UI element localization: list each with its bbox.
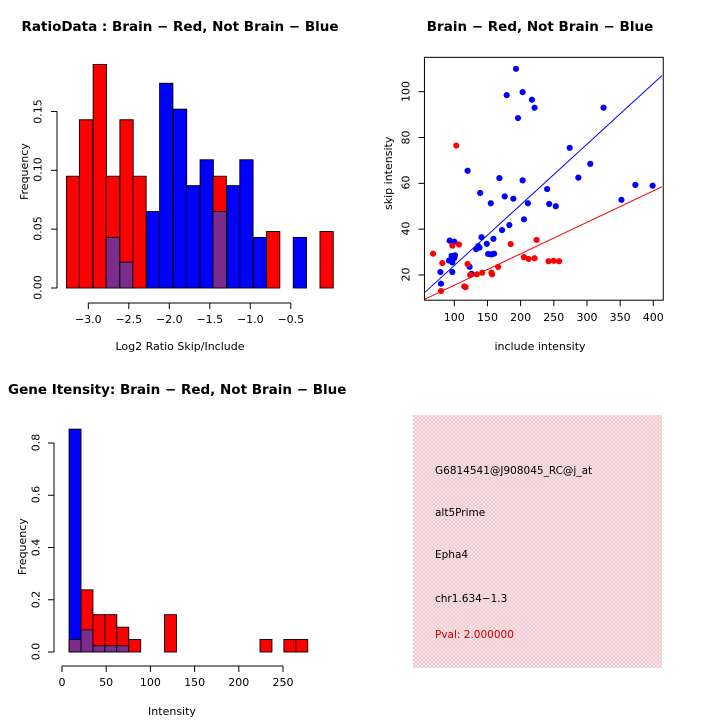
scatter-point xyxy=(473,246,479,252)
x-tick-label: 200 xyxy=(510,311,531,324)
histogram-bar-red xyxy=(129,639,141,652)
histogram-bar-red xyxy=(165,615,177,652)
scatter-point xyxy=(533,237,539,243)
scatter-point xyxy=(556,258,562,264)
histogram-bar-blue xyxy=(293,237,306,288)
x-tick-label: 350 xyxy=(610,311,631,324)
histogram-bar-red xyxy=(296,639,308,652)
scatter-point xyxy=(496,175,502,181)
scatter-point xyxy=(506,222,512,228)
intensity-scatter-panel: Brain − Red, Not Brain − Blue include in… xyxy=(360,0,720,360)
gene-intensity-histogram-ylabel: Frequency xyxy=(16,518,29,575)
scatter-point xyxy=(551,258,557,264)
y-tick-label: 0.05 xyxy=(32,216,45,242)
plot-frame xyxy=(424,57,663,300)
scatter-point xyxy=(521,216,527,222)
x-tick-label: 100 xyxy=(140,676,161,689)
histogram-bar-red xyxy=(79,120,92,288)
scatter-point xyxy=(587,161,593,167)
histogram-bar-blue xyxy=(173,109,186,288)
scatter-point xyxy=(531,105,537,111)
intensity-scatter-plot xyxy=(360,0,720,330)
x-tick-label: 0 xyxy=(59,676,66,689)
scatter-point xyxy=(575,175,581,181)
scatter-point xyxy=(438,281,444,287)
x-tick-label: −2.5 xyxy=(115,313,142,326)
gene-intensity-histogram-xlabel: Intensity xyxy=(148,705,196,718)
y-tick-label: 0.00 xyxy=(32,275,45,301)
scatter-point xyxy=(462,284,468,290)
scatter-point xyxy=(495,264,501,270)
y-tick-label: 40 xyxy=(400,216,413,242)
scatter-point xyxy=(477,190,483,196)
x-tick-label: −1.5 xyxy=(196,313,223,326)
scatter-point xyxy=(467,272,473,278)
y-tick-label: 20 xyxy=(400,262,413,288)
x-tick-label: 300 xyxy=(576,311,597,324)
scatter-point xyxy=(502,193,508,199)
x-tick-label: 200 xyxy=(228,676,249,689)
histogram-bar-red xyxy=(260,639,272,652)
histogram-bar-blue xyxy=(69,429,81,652)
histogram-bar-red xyxy=(66,176,79,288)
histogram-bar-red xyxy=(320,232,333,288)
y-tick-label: 0.6 xyxy=(30,483,43,507)
scatter-point xyxy=(632,182,638,188)
x-tick-label: −3.0 xyxy=(75,313,102,326)
scatter-point xyxy=(567,145,573,151)
y-tick-label: 0.2 xyxy=(30,587,43,611)
histogram-bar-blue xyxy=(227,186,240,288)
x-tick-label: −1.0 xyxy=(237,313,264,326)
locus-text: chr1.634−1.3 xyxy=(435,593,507,605)
scatter-point xyxy=(449,259,455,265)
histogram-bar-blue xyxy=(200,160,213,288)
histogram-bar-red xyxy=(93,64,106,288)
gene-intensity-histogram-panel: Gene Itensity: Brain − Red, Not Brain − … xyxy=(0,360,360,720)
scatter-point xyxy=(504,92,510,98)
histogram-bar-blue xyxy=(160,83,173,288)
histogram-bar-red xyxy=(284,639,296,652)
scatter-point xyxy=(430,251,436,257)
gene-name-text: Epha4 xyxy=(435,549,468,561)
scatter-point xyxy=(520,177,526,183)
pval-text: Pval: 2.000000 xyxy=(435,629,514,641)
histogram-bar-red xyxy=(267,232,280,288)
scatter-point xyxy=(520,89,526,95)
intensity-scatter-xlabel: include intensity xyxy=(494,340,585,353)
scatter-point xyxy=(490,236,496,242)
scatter-point xyxy=(553,203,559,209)
scatter-point xyxy=(650,183,656,189)
y-tick-label: 0.0 xyxy=(30,640,43,664)
histogram-bar-red xyxy=(133,176,146,288)
gene-info-panel: G6814541@J908045_RC@j_at alt5Prime Epha4… xyxy=(413,415,662,668)
regression-line xyxy=(425,76,662,293)
scatter-point xyxy=(531,255,537,261)
scatter-point xyxy=(449,243,455,249)
scatter-point xyxy=(513,66,519,72)
scatter-point xyxy=(545,258,551,264)
event-type-text: alt5Prime xyxy=(435,507,485,519)
x-tick-label: 400 xyxy=(643,311,664,324)
scatter-point xyxy=(464,168,470,174)
scatter-point xyxy=(474,271,480,277)
histogram-bar-blue xyxy=(254,237,267,288)
scatter-point xyxy=(525,256,531,262)
histogram-bar-overlap xyxy=(117,646,129,652)
histogram-bar-blue xyxy=(186,186,199,288)
histogram-bar-overlap xyxy=(93,646,105,652)
y-tick-label: 80 xyxy=(400,124,413,150)
y-tick-label: 100 xyxy=(400,78,413,104)
x-tick-label: −0.5 xyxy=(277,313,304,326)
scatter-point xyxy=(546,201,552,207)
probe-id-text: G6814541@J908045_RC@j_at xyxy=(435,465,592,477)
scatter-point xyxy=(488,200,494,206)
intensity-scatter-ylabel: skip intensity xyxy=(382,137,395,210)
x-tick-label: 100 xyxy=(444,311,465,324)
ratio-histogram-xlabel: Log2 Ratio Skip/Include xyxy=(115,340,244,353)
x-tick-label: 50 xyxy=(99,676,113,689)
x-tick-label: 250 xyxy=(273,676,294,689)
scatter-point xyxy=(600,105,606,111)
scatter-point xyxy=(449,269,455,275)
histogram-bar-blue xyxy=(240,160,253,288)
scatter-point xyxy=(510,196,516,202)
histogram-bar-overlap xyxy=(106,237,119,288)
histogram-bar-overlap xyxy=(120,262,133,288)
scatter-point xyxy=(478,234,484,240)
scatter-point xyxy=(489,271,495,277)
scatter-point xyxy=(529,97,535,103)
y-tick-label: 0.10 xyxy=(32,157,45,183)
x-tick-label: 150 xyxy=(184,676,205,689)
gene-intensity-histogram-plot xyxy=(0,360,360,690)
histogram-bar-blue xyxy=(147,212,160,288)
ratio-histogram-ylabel: Frequency xyxy=(18,143,31,200)
scatter-point xyxy=(618,197,624,203)
scatter-point xyxy=(484,241,490,247)
x-tick-label: −2.0 xyxy=(156,313,183,326)
scatter-point xyxy=(456,241,462,247)
x-tick-label: 150 xyxy=(477,311,498,324)
y-tick-label: 0.15 xyxy=(32,98,45,124)
scatter-point xyxy=(499,227,505,233)
scatter-point xyxy=(544,186,550,192)
scatter-point xyxy=(525,200,531,206)
ratio-histogram-panel: RatioData : Brain − Red, Not Brain − Blu… xyxy=(0,0,360,360)
histogram-bar-overlap xyxy=(213,212,226,288)
scatter-point xyxy=(439,260,445,266)
ratio-histogram-plot xyxy=(0,0,360,330)
histogram-bar-overlap xyxy=(69,639,81,652)
histogram-bar-overlap xyxy=(81,630,93,652)
scatter-point xyxy=(438,288,444,294)
scatter-point xyxy=(479,270,485,276)
scatter-point xyxy=(453,142,459,148)
scatter-point xyxy=(488,251,494,257)
y-tick-label: 60 xyxy=(400,170,413,196)
scatter-point xyxy=(464,261,470,267)
x-tick-label: 250 xyxy=(543,311,564,324)
scatter-point xyxy=(515,115,521,121)
y-tick-label: 0.4 xyxy=(30,535,43,559)
histogram-bar-overlap xyxy=(105,646,117,652)
y-tick-label: 0.8 xyxy=(30,431,43,455)
scatter-point xyxy=(508,241,514,247)
scatter-point xyxy=(437,269,443,275)
